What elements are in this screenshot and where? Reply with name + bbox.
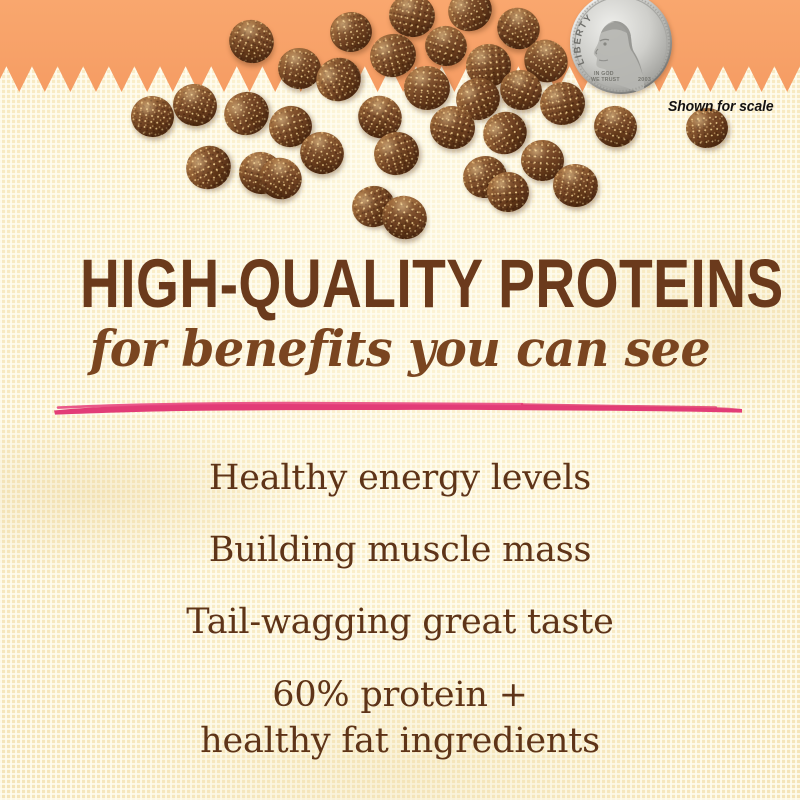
us-dime-icon: LIBERTY IN GOD WE TRUST 2003 (570, 0, 672, 94)
benefit-item: 60% protein + healthy fat ingredients (0, 672, 800, 764)
svg-text:WE TRUST: WE TRUST (591, 77, 620, 83)
orange-top-band (0, 0, 800, 92)
benefit-item: Healthy energy levels (0, 456, 800, 500)
benefit-item: Building muscle mass (0, 528, 800, 572)
product-feature-poster: LIBERTY IN GOD WE TRUST 2003 Shown for s… (0, 0, 800, 800)
benefit-item: Tail-wagging great taste (0, 600, 800, 644)
divider-brushstroke (52, 394, 744, 418)
benefits-list: Healthy energy levelsBuilding muscle mas… (0, 456, 800, 764)
page-subtitle: for benefits you can see (20, 321, 780, 377)
scale-coin: LIBERTY IN GOD WE TRUST 2003 (570, 0, 672, 94)
page-title: HIGH-QUALITY PROTEINS (80, 249, 720, 318)
svg-text:2003: 2003 (638, 77, 651, 83)
shown-for-scale-label: Shown for scale (668, 98, 774, 115)
